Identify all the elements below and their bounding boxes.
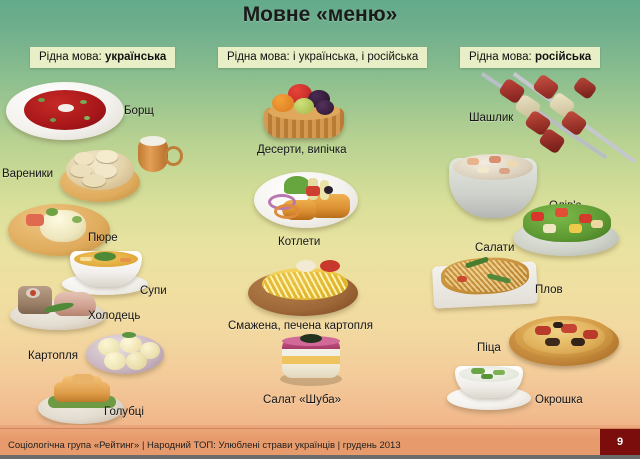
header-value: українська xyxy=(105,51,166,63)
food-label-pilaf: Плов xyxy=(535,284,563,296)
column-both: Десерти, випічка Котлети xyxy=(212,76,427,421)
food-label-shashlik: Шашлик xyxy=(469,112,513,124)
food-label-varenyky: Вареники xyxy=(2,168,53,180)
food-label-salads: Салати xyxy=(475,242,514,254)
header-box-ukrainian: Рідна мова: українська xyxy=(30,47,175,68)
food-label-mashed-potatoes: Пюре xyxy=(88,232,118,244)
food-label-potatoes: Картопля xyxy=(28,350,78,362)
header-prefix: Рідна мова: xyxy=(39,51,105,63)
food-label-aspic: Холодець xyxy=(88,310,140,322)
header-prefix: Рідна мова: xyxy=(227,51,293,63)
food-label-borscht: Борщ xyxy=(124,105,154,117)
food-label-soups: Супи xyxy=(140,285,167,297)
header-box-russian: Рідна мова: російська xyxy=(460,47,600,68)
header-value: російська xyxy=(535,51,591,63)
food-label-desserts: Десерти, випічка xyxy=(257,144,347,156)
food-label-cabbage-rolls: Голубці xyxy=(104,406,144,418)
footer-text: Соціологічна група «Рейтинг» | Народний … xyxy=(8,440,401,451)
food-label-fried-potatoes: Смажена, печена картопля xyxy=(228,320,373,332)
footer-bottom-bar xyxy=(0,455,640,459)
food-label-pizza: Піца xyxy=(477,342,501,354)
page-title: Мовне «меню» xyxy=(0,3,640,27)
header-value: і українська, і російська xyxy=(293,51,418,63)
food-label-cutlets: Котлети xyxy=(278,236,320,248)
header-box-both: Рідна мова: і українська, і російська xyxy=(218,47,427,68)
food-label-shuba-salad: Салат «Шуба» xyxy=(263,394,341,406)
slide-canvas: Мовне «меню» Рідна мова: українська Рідн… xyxy=(0,0,640,459)
page-number-badge: 9 xyxy=(600,429,640,455)
footer-divider xyxy=(0,428,640,429)
column-ukrainian: Борщ Вареники xyxy=(0,76,212,421)
food-label-okroshka: Окрошка xyxy=(535,394,583,406)
column-russian: Шашлик Олів'є xyxy=(427,76,640,421)
header-prefix: Рідна мова: xyxy=(469,51,535,63)
